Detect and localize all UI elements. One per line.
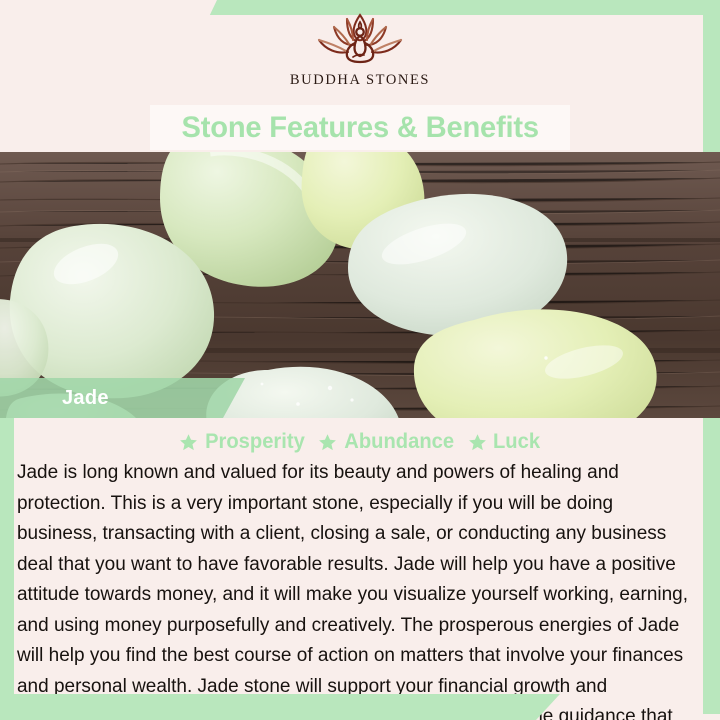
benefit-label: Abundance [345, 430, 455, 454]
star-icon [318, 433, 337, 452]
brand-block: BUDDHA STONES [0, 8, 720, 89]
benefit-label: Prosperity [205, 430, 305, 454]
star-icon [179, 433, 198, 452]
benefit-item: Luck [468, 430, 541, 454]
lotus-meditation-icon [312, 8, 408, 70]
stone-name-ribbon: Jade [0, 378, 245, 418]
decorative-bottom-green-band [0, 694, 560, 720]
benefit-item: Abundance [318, 430, 456, 454]
title-banner: Stone Features & Benefits [150, 105, 570, 150]
benefit-label: Luck [493, 430, 540, 454]
page-title: Stone Features & Benefits [181, 111, 538, 145]
benefits-row: Prosperity Abundance Luck [0, 430, 720, 454]
benefit-item: Prosperity [179, 430, 307, 454]
brand-name: BUDDHA STONES [290, 72, 430, 89]
stone-description: Jade is long known and valued for its be… [17, 458, 689, 720]
infographic-page: BUDDHA STONES Stone Features & Benefits [0, 0, 720, 720]
star-icon [468, 433, 487, 452]
stone-name-label: Jade [62, 387, 109, 410]
